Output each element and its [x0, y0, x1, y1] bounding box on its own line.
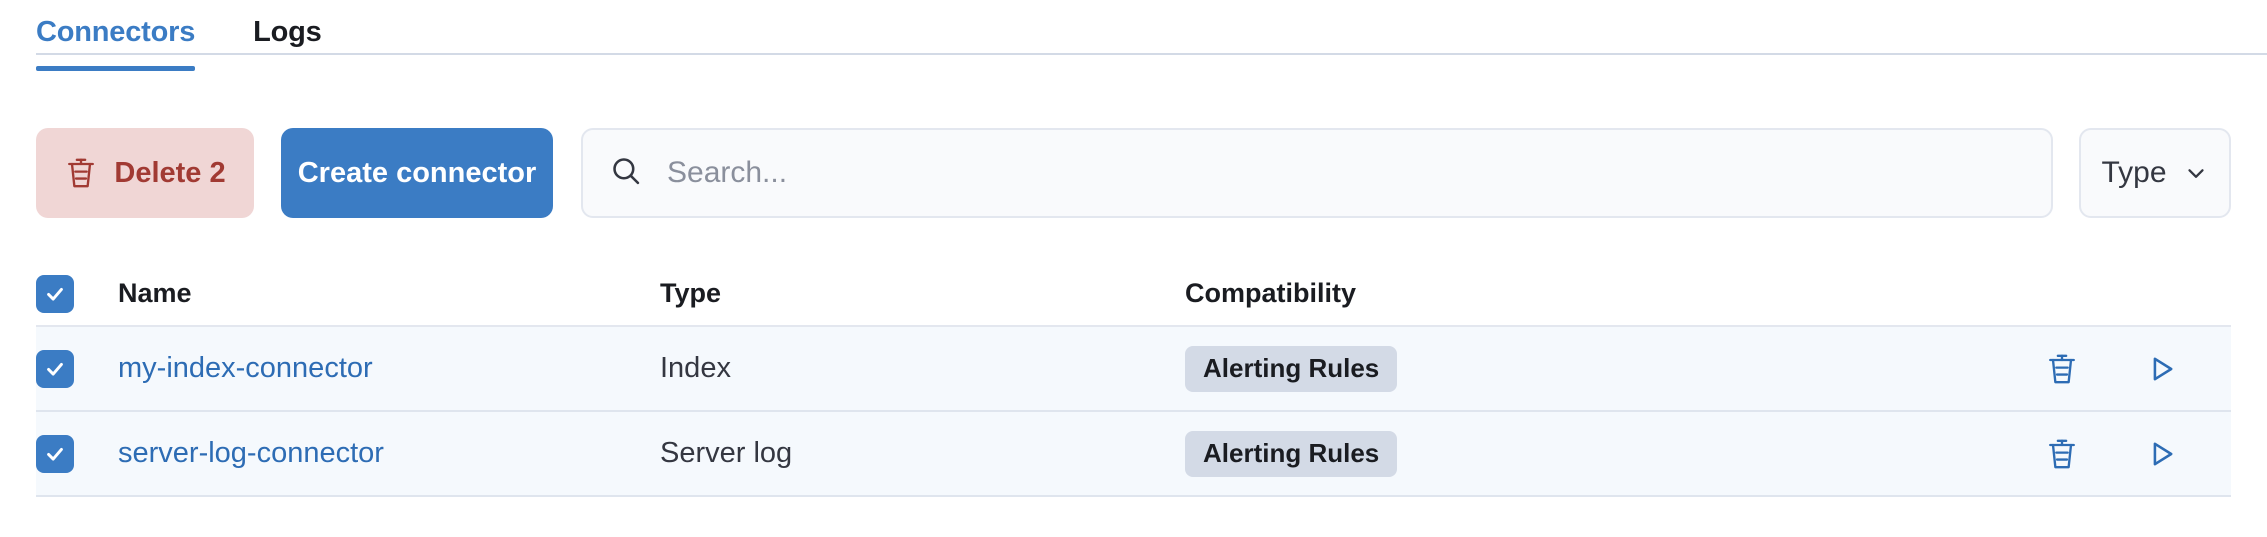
chevron-down-icon [2183, 160, 2209, 186]
table-row[interactable]: my-index-connector Index Alerting Rules [36, 327, 2231, 412]
table-header-row: Name Type Compatibility [36, 262, 2231, 327]
row-checkbox[interactable] [36, 435, 74, 473]
delete-button-label: Delete 2 [114, 157, 225, 190]
row-compatibility-cell: Alerting Rules [1185, 346, 2001, 392]
type-filter-dropdown[interactable]: Type [2079, 128, 2231, 218]
row-name-cell: server-log-connector [118, 437, 660, 470]
run-icon [2145, 352, 2179, 386]
select-all-cell [36, 275, 118, 313]
row-select-cell [36, 435, 118, 473]
row-name-cell: my-index-connector [118, 352, 660, 385]
row-compatibility-cell: Alerting Rules [1185, 431, 2001, 477]
tab-logs[interactable]: Logs [253, 10, 321, 71]
connectors-table: Name Type Compatibility my-index-connect… [36, 262, 2231, 497]
column-header-type[interactable]: Type [660, 278, 1185, 309]
status-badge: Alerting Rules [1185, 346, 1397, 392]
search-icon [609, 154, 643, 193]
search-input[interactable] [667, 156, 2025, 190]
trash-icon [2045, 436, 2079, 472]
connectors-page: Connectors Logs Delete 2 Crea [0, 0, 2267, 537]
tab-connectors[interactable]: Connectors [36, 10, 195, 71]
select-all-checkbox[interactable] [36, 275, 74, 313]
trash-icon [64, 155, 98, 191]
row-actions-cell [2001, 436, 2231, 472]
create-connector-label: Create connector [298, 157, 537, 190]
row-select-cell [36, 350, 118, 388]
row-checkbox[interactable] [36, 350, 74, 388]
table-row[interactable]: server-log-connector Server log Alerting… [36, 412, 2231, 497]
row-actions-cell [2001, 351, 2231, 387]
tab-list: Connectors Logs [36, 10, 322, 71]
tab-bar-divider [36, 53, 2267, 55]
row-type-cell: Index [660, 352, 1185, 385]
column-header-compatibility[interactable]: Compatibility [1185, 278, 2001, 309]
type-filter-label: Type [2101, 156, 2166, 190]
tab-connectors-label: Connectors [36, 16, 195, 48]
toolbar: Delete 2 Create connector Type [36, 128, 2231, 218]
create-connector-button[interactable]: Create connector [281, 128, 553, 218]
column-header-name[interactable]: Name [118, 278, 660, 309]
delete-button[interactable]: Delete 2 [36, 128, 254, 218]
run-icon [2145, 437, 2179, 471]
status-badge: Alerting Rules [1185, 431, 1397, 477]
run-row-button[interactable] [2145, 437, 2179, 471]
connector-name-link[interactable]: my-index-connector [118, 352, 373, 384]
trash-icon [2045, 351, 2079, 387]
tab-bar: Connectors Logs [0, 0, 2267, 81]
search-box[interactable] [581, 128, 2053, 218]
delete-row-button[interactable] [2045, 351, 2079, 387]
delete-row-button[interactable] [2045, 436, 2079, 472]
connector-name-link[interactable]: server-log-connector [118, 437, 384, 469]
row-type-cell: Server log [660, 437, 1185, 470]
run-row-button[interactable] [2145, 352, 2179, 386]
tab-logs-label: Logs [253, 16, 321, 48]
